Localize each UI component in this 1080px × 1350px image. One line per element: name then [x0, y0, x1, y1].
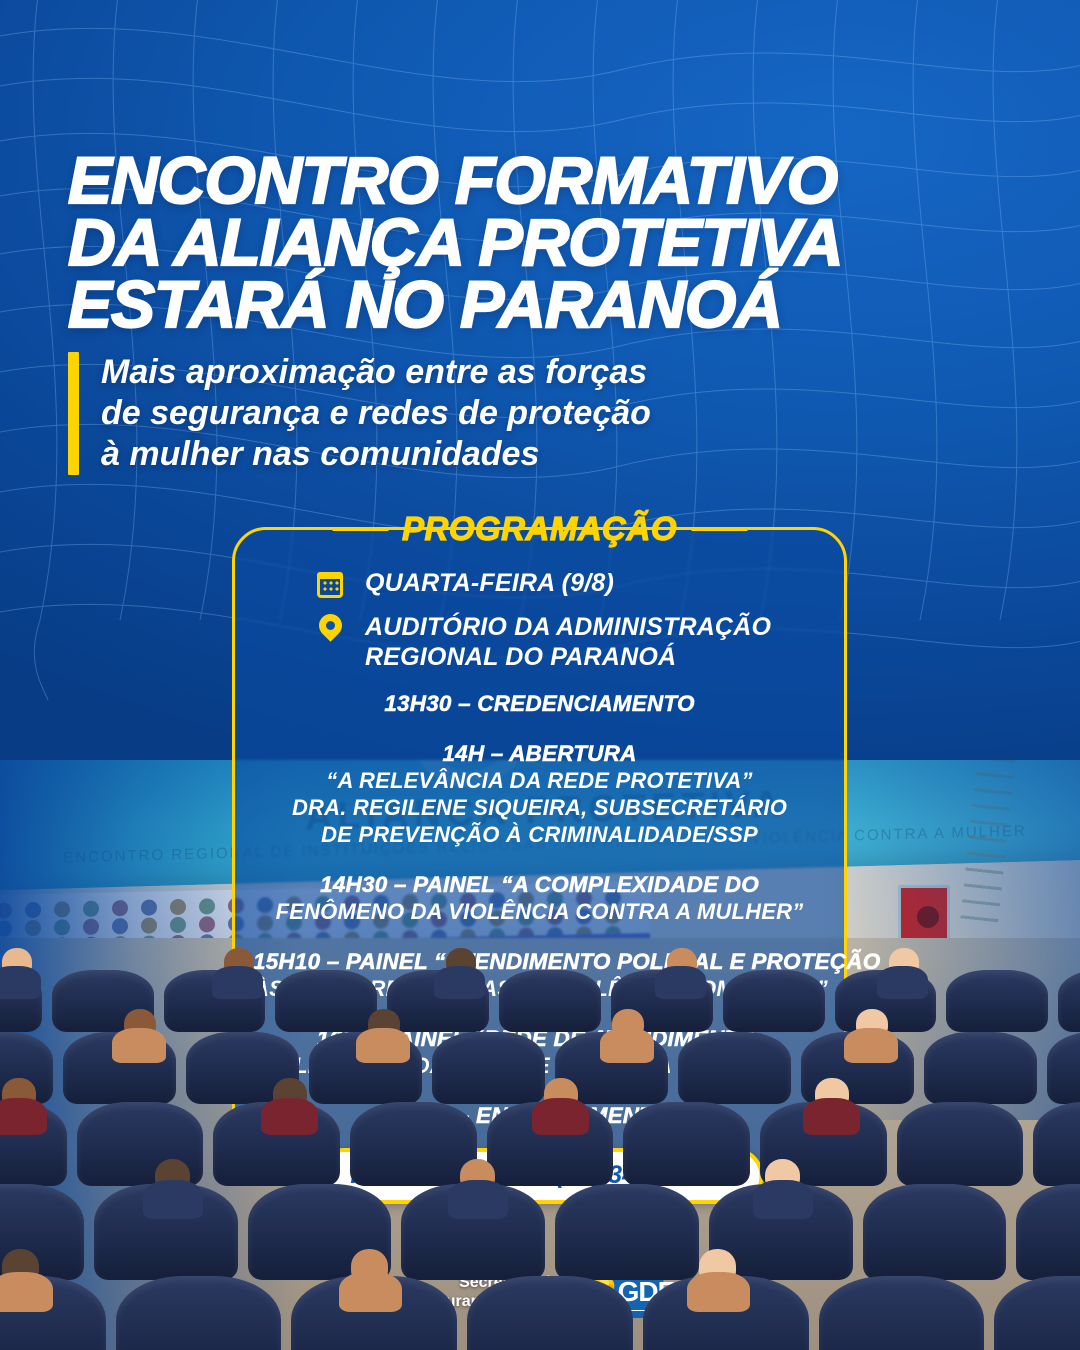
event-date-row: QUARTA-FEIRA (9/8) [317, 568, 787, 600]
agenda-line: “A RELEVÂNCIA DA REDE PROTETIVA” [253, 767, 826, 794]
title-rule-right [691, 528, 747, 531]
audience-member-body [0, 1272, 53, 1313]
program-label: PROGRAMAÇÃO [402, 510, 677, 548]
seat [819, 1276, 985, 1350]
seat [946, 970, 1048, 1032]
seat [897, 1102, 1024, 1186]
audience-member-body [143, 1180, 203, 1219]
audience-member-body [434, 966, 485, 999]
audience-member-body [532, 1098, 589, 1135]
audience-member-body [448, 1180, 508, 1219]
map-pin-icon [317, 614, 345, 644]
seat [1058, 970, 1080, 1032]
agenda-line: 14h30 – PAINEL “A COMPLEXIDADE DO [253, 871, 826, 898]
subtitle-line-1: Mais aproximação entre as forças [101, 352, 651, 393]
seat [1033, 1102, 1080, 1186]
poster-canvas: ALIANÇA PROTETIVA ENCONTRO REGIONAL DE I… [0, 0, 1080, 1350]
program-card-title: PROGRAMAÇÃO [332, 510, 747, 548]
audience-member-body [0, 1098, 47, 1135]
seat [275, 970, 377, 1032]
audience-member-body [0, 966, 41, 999]
audience-member-body [339, 1272, 402, 1313]
agenda-item: 13h30 – CREDENCIAMENTO [253, 690, 826, 717]
headline-line-2: DA ALIANÇA PROTETIVA [68, 214, 1028, 270]
seat [350, 1102, 477, 1186]
agenda-item: 14h30 – PAINEL “A COMPLEXIDADE DO FENÔME… [253, 871, 826, 925]
agenda-line: DRA. REGILENE SIQUEIRA, SUBSECRETÁRIO [253, 794, 826, 821]
agenda-line: DE PREVENÇÃO À CRIMINALIDADE/SSP [253, 821, 826, 848]
agenda-item: 14h – ABERTURA “A RELEVÂNCIA DA REDE PRO… [253, 740, 826, 848]
seat [723, 970, 825, 1032]
seat [116, 1276, 282, 1350]
seat-row [0, 1276, 1080, 1350]
seat [467, 1276, 633, 1350]
seat [1047, 1032, 1080, 1104]
audience-member-body [687, 1272, 750, 1313]
audience-member-body [655, 966, 706, 999]
location-line-2: REGIONAL DO PARANOÁ [365, 642, 771, 672]
page-title: ENCONTRO FORMATIVO DA ALIANÇA PROTETIVA … [68, 152, 1028, 338]
audience-member-body [877, 966, 928, 999]
seat [555, 1184, 699, 1280]
audience-member-body [803, 1098, 860, 1135]
event-date-text: QUARTA-FEIRA (9/8) [365, 568, 614, 598]
seat [432, 1032, 545, 1104]
subtitle-text: Mais aproximação entre as forças de segu… [101, 352, 651, 475]
seat [678, 1032, 791, 1104]
seat [1016, 1184, 1080, 1280]
title-rule-left [332, 528, 388, 531]
subtitle-line-3: à mulher nas comunidades [101, 434, 651, 475]
subtitle-line-2: de segurança e redes de proteção [101, 393, 651, 434]
audience-member-body [261, 1098, 318, 1135]
event-location-text: AUDITÓRIO DA ADMINISTRAÇÃO REGIONAL DO P… [365, 612, 771, 672]
audience-member-body [356, 1028, 410, 1063]
seat [863, 1184, 1007, 1280]
event-date-value: QUARTA-FEIRA (9/8) [365, 568, 614, 598]
headline-line-3: ESTARÁ NO PARANOÁ [68, 276, 1028, 332]
agenda-line: 14h – ABERTURA [253, 740, 826, 767]
yellow-accent-bar [68, 352, 79, 475]
seat [623, 1102, 750, 1186]
event-meta: QUARTA-FEIRA (9/8) AUDITÓRIO DA ADMINIST… [317, 568, 787, 684]
seat [994, 1276, 1080, 1350]
audience-member-body [212, 966, 263, 999]
seat [924, 1032, 1037, 1104]
seat [499, 970, 601, 1032]
audience-member-body [112, 1028, 166, 1063]
headline-line-1: ENCONTRO FORMATIVO [68, 152, 1028, 208]
audience-member-body [600, 1028, 654, 1063]
subtitle-block: Mais aproximação entre as forças de segu… [68, 352, 928, 475]
audience-member-body [844, 1028, 898, 1063]
event-location-row: AUDITÓRIO DA ADMINISTRAÇÃO REGIONAL DO P… [317, 612, 787, 672]
agenda-line: 13h30 – CREDENCIAMENTO [253, 690, 826, 717]
location-line-1: AUDITÓRIO DA ADMINISTRAÇÃO [365, 612, 771, 642]
calendar-icon [317, 570, 345, 600]
audience-member-body [753, 1180, 813, 1219]
agenda-line: FENÔMENO DA VIOLÊNCIA CONTRA A MULHER” [253, 898, 826, 925]
